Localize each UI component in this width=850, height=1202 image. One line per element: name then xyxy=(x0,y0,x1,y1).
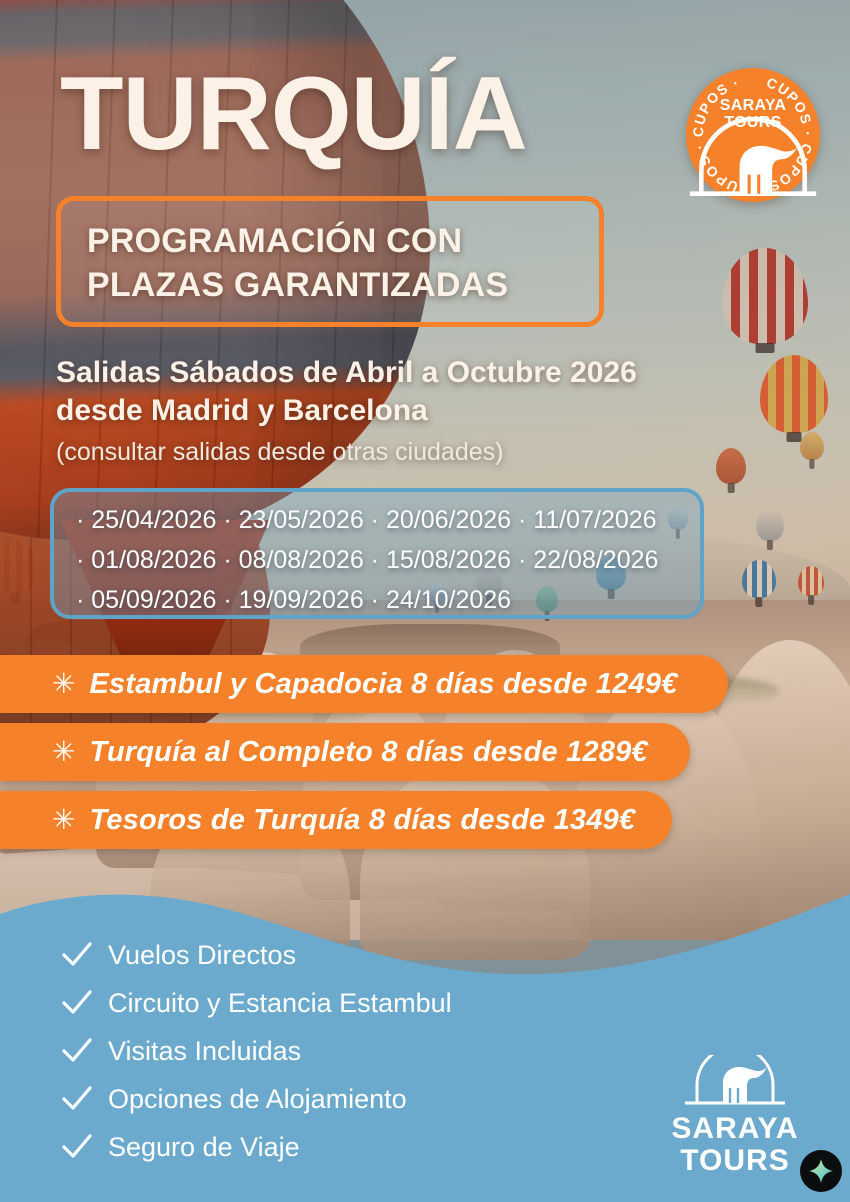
check-icon xyxy=(60,986,94,1020)
promo-guaranteed-seats-box: PROGRAMACIÓN CON PLAZAS GARANTIZADAS xyxy=(56,196,604,327)
cupos-stamp-badge: CUPOS · CUPOS · CUPOS · CUPOS · SARAYA T… xyxy=(686,68,820,202)
camel-arch-icon xyxy=(683,1055,787,1109)
sparkle-icon xyxy=(808,1158,834,1184)
logo-line-2: TOURS xyxy=(660,1145,810,1177)
check-icon xyxy=(60,938,94,972)
offer-bar-estambul-capadocia[interactable]: ✳ Estambul y Capadocia 8 días desde 1249… xyxy=(0,655,728,713)
offer-label: Estambul y Capadocia 8 días desde 1249€ xyxy=(89,668,677,701)
page-title: TURQUÍA xyxy=(60,62,527,166)
feature-item-visitas-incluidas: Visitas Incluidas xyxy=(60,1034,301,1068)
star-icon: ✳ xyxy=(52,738,75,766)
travel-poster: TURQUÍA CUPOS · CUPOS · CUPOS · CUPOS · … xyxy=(0,0,850,1202)
feature-label: Circuito y Estancia Estambul xyxy=(108,988,452,1019)
offer-bar-tesoros-turquia[interactable]: ✳ Tesoros de Turquía 8 días desde 1349€ xyxy=(0,791,672,849)
camel-arch-icon xyxy=(686,98,820,232)
offer-label: Tesoros de Turquía 8 días desde 1349€ xyxy=(89,804,635,837)
promo-line-2: PLAZAS GARANTIZADAS xyxy=(87,266,508,305)
star-icon: ✳ xyxy=(52,670,75,698)
check-icon xyxy=(60,1130,94,1164)
feature-label: Vuelos Directos xyxy=(108,940,296,971)
dates-row: · 25/04/2026 · 23/05/2026 · 20/06/2026 ·… xyxy=(76,506,657,535)
feature-item-circuito-estancia: Circuito y Estancia Estambul xyxy=(60,986,452,1020)
departures-line-1: Salidas Sábados de Abril a Octubre 2026 xyxy=(56,356,637,390)
offer-label: Turquía al Completo 8 días desde 1289€ xyxy=(89,736,647,769)
poster-content: TURQUÍA CUPOS · CUPOS · CUPOS · CUPOS · … xyxy=(0,0,850,1202)
feature-label: Visitas Incluidas xyxy=(108,1036,301,1067)
feature-item-opciones-alojamiento: Opciones de Alojamiento xyxy=(60,1082,407,1116)
feature-item-vuelos-directos: Vuelos Directos xyxy=(60,938,296,972)
feature-label: Opciones de Alojamiento xyxy=(108,1084,407,1115)
feature-label: Seguro de Viaje xyxy=(108,1132,300,1163)
logo-line-1: SARAYA xyxy=(660,1113,810,1145)
check-icon xyxy=(60,1082,94,1116)
feature-item-seguro-viaje: Seguro de Viaje xyxy=(60,1130,300,1164)
star-icon: ✳ xyxy=(52,806,75,834)
check-icon xyxy=(60,1034,94,1068)
departure-dates-box: · 25/04/2026 · 23/05/2026 · 20/06/2026 ·… xyxy=(50,488,704,619)
departures-note: (consultar salidas desde otras ciudades) xyxy=(56,438,503,467)
offer-bar-turquia-completo[interactable]: ✳ Turquía al Completo 8 días desde 1289€ xyxy=(0,723,690,781)
stamp-inner: SARAYA TOURS xyxy=(686,98,820,132)
saraya-tours-logo: SARAYA TOURS xyxy=(660,1055,810,1177)
dates-row: · 01/08/2026 · 08/08/2026 · 15/08/2026 ·… xyxy=(76,546,658,575)
promo-line-1: PROGRAMACIÓN CON xyxy=(87,222,462,261)
departures-line-2: desde Madrid y Barcelona xyxy=(56,394,428,428)
ai-watermark-badge xyxy=(800,1150,842,1192)
dates-row: · 05/09/2026 · 19/09/2026 · 24/10/2026 xyxy=(76,586,511,615)
